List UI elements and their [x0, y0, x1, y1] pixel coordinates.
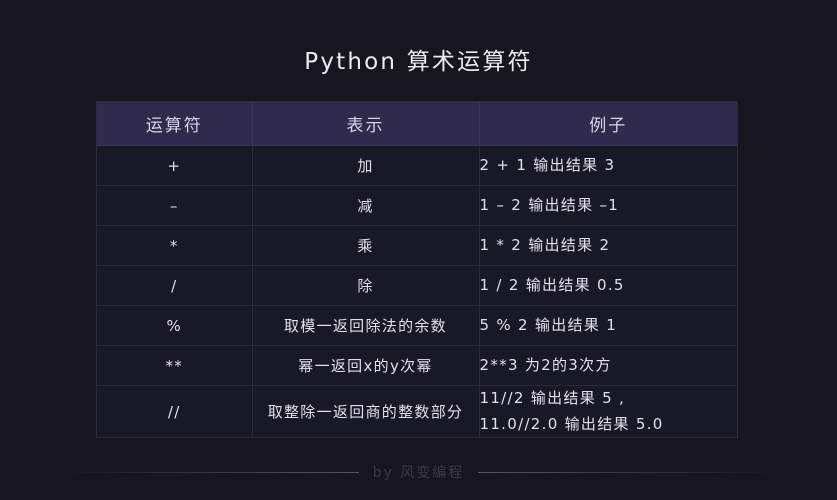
example-line: 2**3 为2的3次方 [480, 353, 738, 379]
cell-operator: / [97, 266, 252, 306]
table-row: * 乘 1 * 2 输出结果 2 [97, 226, 737, 266]
cell-example: 2 + 1 输出结果 3 [479, 146, 737, 186]
cell-meaning: 幂一返回x的y次幂 [252, 346, 479, 386]
cell-example: 2**3 为2的3次方 [479, 346, 737, 386]
cell-operator: // [97, 386, 252, 438]
cell-example: 5 % 2 输出结果 1 [479, 306, 737, 346]
cell-meaning: 取整除一返回商的整数部分 [252, 386, 479, 438]
example-line: 1 * 2 输出结果 2 [480, 233, 738, 259]
cell-meaning: 取模一返回除法的余数 [252, 306, 479, 346]
table-header: 运算符 表示 例子 [97, 102, 737, 146]
slide-root: Python 算术运算符 运算符 表示 例子 + 加 2 [0, 0, 837, 500]
cell-example: 1 / 2 输出结果 0.5 [479, 266, 737, 306]
operators-table: 运算符 表示 例子 + 加 2 + 1 输出结果 3 – 减 1 [97, 102, 737, 437]
example-line: 11//2 输出结果 5 , [480, 386, 738, 412]
cell-meaning: 乘 [252, 226, 479, 266]
example-line: 2 + 1 输出结果 3 [480, 153, 738, 179]
column-header-meaning: 表示 [252, 102, 479, 146]
table-row: // 取整除一返回商的整数部分 11//2 输出结果 5 , 11.0//2.0… [97, 386, 737, 438]
table-row: + 加 2 + 1 输出结果 3 [97, 146, 737, 186]
table-row: ** 幂一返回x的y次幂 2**3 为2的3次方 [97, 346, 737, 386]
table-body: + 加 2 + 1 输出结果 3 – 减 1 – 2 输出结果 –1 * 乘 [97, 146, 737, 438]
cell-example: 1 – 2 输出结果 –1 [479, 186, 737, 226]
cell-meaning: 加 [252, 146, 479, 186]
footer-divider-left [59, 472, 359, 473]
footer: by 风变编程 [0, 462, 837, 482]
table-row: / 除 1 / 2 输出结果 0.5 [97, 266, 737, 306]
column-header-operator: 运算符 [97, 102, 252, 146]
example-line: 11.0//2.0 输出结果 5.0 [480, 412, 738, 438]
cell-meaning: 减 [252, 186, 479, 226]
footer-credit: by 风变编程 [373, 462, 465, 482]
cell-meaning: 除 [252, 266, 479, 306]
example-line: 1 – 2 输出结果 –1 [480, 193, 738, 219]
cell-example: 11//2 输出结果 5 , 11.0//2.0 输出结果 5.0 [479, 386, 737, 438]
cell-example: 1 * 2 输出结果 2 [479, 226, 737, 266]
footer-divider-right [478, 472, 778, 473]
cell-operator: – [97, 186, 252, 226]
column-header-example: 例子 [479, 102, 737, 146]
table-header-row: 运算符 表示 例子 [97, 102, 737, 146]
operators-table-container: 运算符 表示 例子 + 加 2 + 1 输出结果 3 – 减 1 [96, 101, 738, 438]
cell-operator: * [97, 226, 252, 266]
page-title: Python 算术运算符 [0, 42, 837, 76]
table-row: – 减 1 – 2 输出结果 –1 [97, 186, 737, 226]
cell-operator: ** [97, 346, 252, 386]
table-row: % 取模一返回除法的余数 5 % 2 输出结果 1 [97, 306, 737, 346]
example-line: 5 % 2 输出结果 1 [480, 313, 738, 339]
cell-operator: + [97, 146, 252, 186]
example-line: 1 / 2 输出结果 0.5 [480, 273, 738, 299]
cell-operator: % [97, 306, 252, 346]
